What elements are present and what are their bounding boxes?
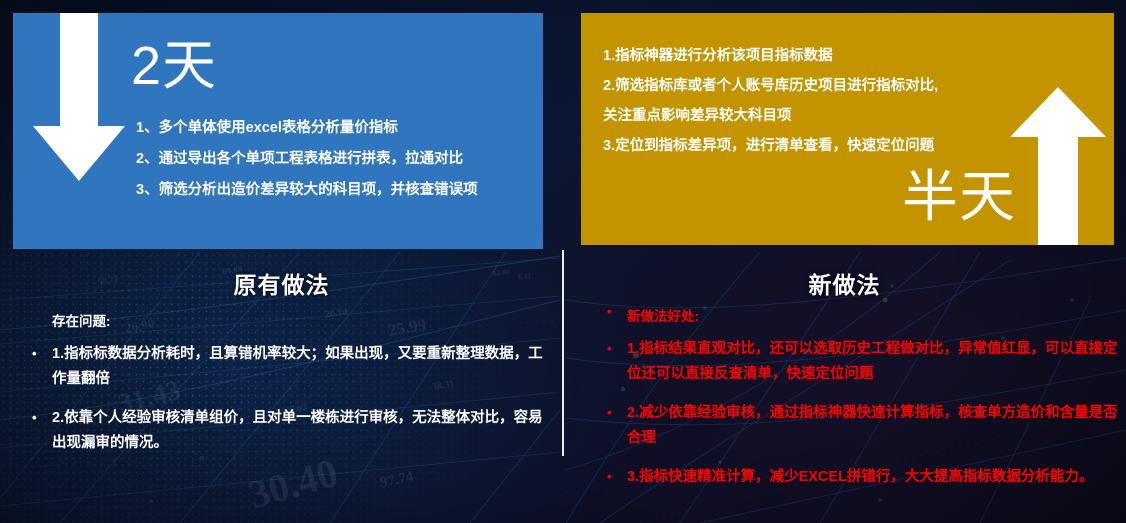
old-method-step-index: 2、	[136, 151, 159, 167]
old-method-step-text: 筛选分析出造价差异较大的科目项，并核查错误项	[159, 182, 478, 198]
new-method-detail-block: 新做法好处: 1.指标结果直观对比，还可以选取历史工程做对比，异常值红显，可以直…	[575, 305, 1120, 504]
new-method-benefit-list: 1.指标结果直观对比，还可以选取历史工程做对比，异常值红显，可以直接定位还可以直…	[575, 337, 1120, 490]
arrow-up-icon	[1010, 87, 1106, 245]
old-method-section-title: 原有做法	[0, 266, 563, 300]
old-method-panel: 2天 1、多个单体使用excel表格分析量价指标2、通过导出各个单项工程表格进行…	[13, 13, 543, 249]
old-method-step: 1、多个单体使用excel表格分析量价指标	[136, 113, 478, 144]
new-method-panel: 1.指标神器进行分析该项目指标数据2.筛选指标库或者个人账号库历史项目进行指标对…	[581, 13, 1114, 245]
new-method-step: 2.筛选指标库或者个人账号库历史项目进行指标对比,	[603, 71, 938, 101]
new-method-step: 关注重点影响差异较大科目项	[603, 101, 938, 131]
new-duration-label: 半天	[902, 169, 1016, 225]
old-method-issue-list: 1.指标标数据分析耗时，且算错机率较大；如果出现，又要重新整理数据，工作量翻倍2…	[0, 342, 556, 456]
slide-canvas: 25.9930.4097.7431.4326.9038.3126.7427.03…	[0, 0, 1126, 523]
new-method-step-list: 1.指标神器进行分析该项目指标数据2.筛选指标库或者个人账号库历史项目进行指标对…	[603, 41, 938, 161]
new-method-benefit-item: 1.指标结果直观对比，还可以选取历史工程做对比，异常值红显，可以直接定位还可以直…	[575, 337, 1120, 387]
old-method-issue-item: 1.指标标数据分析耗时，且算错机率较大；如果出现，又要重新整理数据，工作量翻倍	[0, 342, 556, 392]
old-method-issue-item: 2.依靠个人经验审核清单组价，且对单一楼栋进行审核，无法整体对比，容易出现漏审的…	[0, 406, 556, 456]
new-method-benefit-item: 2.减少依靠经验审核，通过指标神器快速计算指标，核查单方造价和含量是否合理	[575, 401, 1120, 451]
new-method-lead-label: 新做法好处:	[575, 305, 1120, 325]
old-method-lead-label: 存在问题:	[52, 310, 556, 330]
new-method-section-title: 新做法	[563, 266, 1126, 300]
background-number: 97.74	[379, 469, 416, 493]
old-method-step-text: 通过导出各个单项工程表格进行拼表，拉通对比	[159, 151, 464, 167]
old-method-step-list: 1、多个单体使用excel表格分析量价指标2、通过导出各个单项工程表格进行拼表，…	[136, 113, 478, 206]
old-method-step-index: 3、	[136, 182, 159, 198]
old-method-step-text: 多个单体使用excel表格分析量价指标	[159, 120, 398, 136]
new-method-benefit-item: 3.指标快速精准计算，减少EXCEL拼错行，大大提高指标数据分析能力。	[575, 465, 1120, 490]
old-duration-label: 2天	[131, 39, 217, 93]
new-method-step: 1.指标神器进行分析该项目指标数据	[603, 41, 938, 71]
old-method-step: 3、筛选分析出造价差异较大的科目项，并核查错误项	[136, 175, 478, 206]
old-method-step-index: 1、	[136, 120, 159, 136]
arrow-down-icon	[33, 13, 125, 181]
new-method-step: 3.定位到指标差异项，进行清单查看，快速定位问题	[603, 131, 938, 161]
old-method-detail-block: 存在问题: 1.指标标数据分析耗时，且算错机率较大；如果出现，又要重新整理数据，…	[0, 310, 556, 470]
old-method-step: 2、通过导出各个单项工程表格进行拼表，拉通对比	[136, 144, 478, 175]
